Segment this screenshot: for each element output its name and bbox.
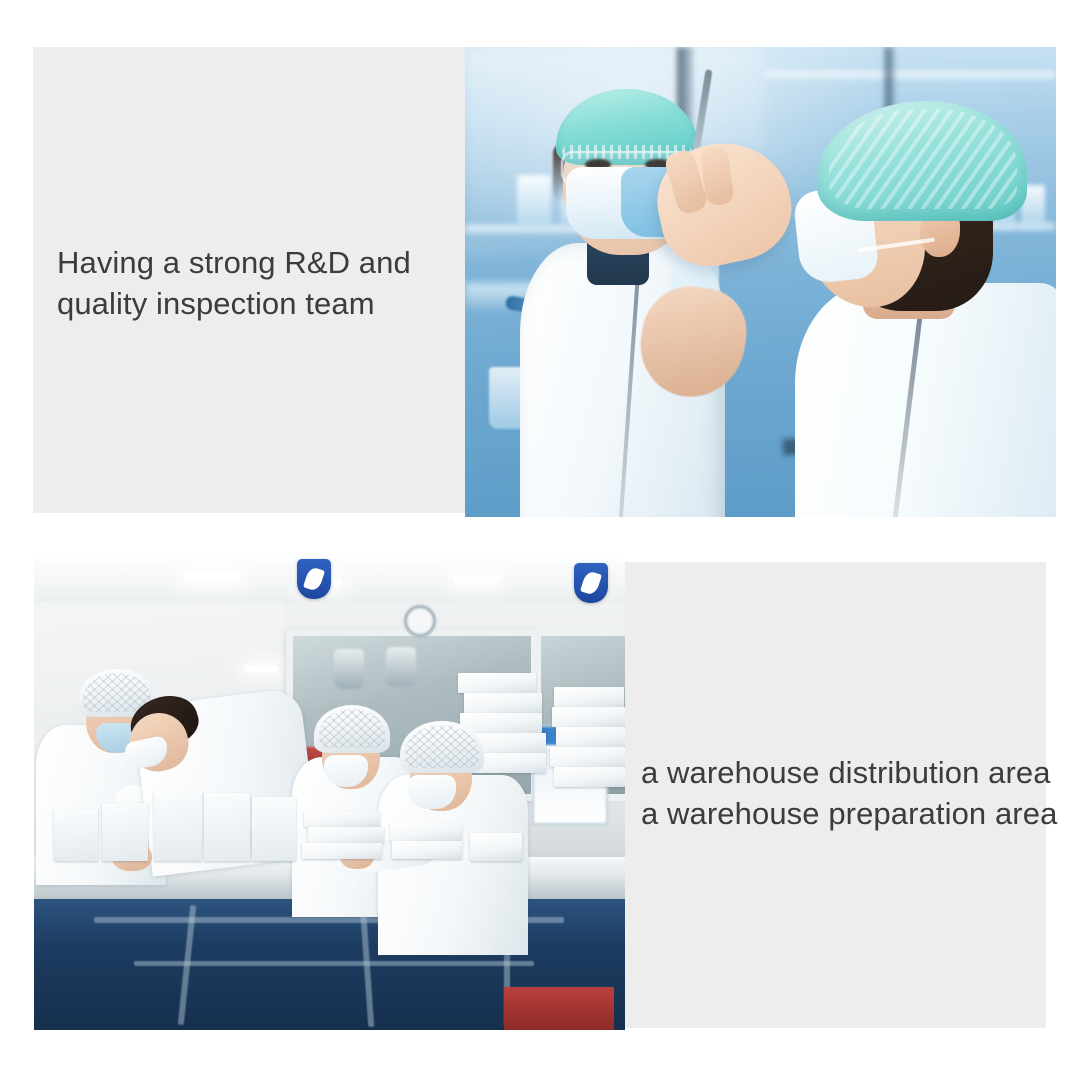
product-box — [54, 809, 98, 861]
page-root: Having a strong R&D and quality inspecti… — [0, 0, 1080, 1080]
bottom-caption-line-1: a warehouse distribution area — [641, 752, 1057, 793]
product-box — [552, 707, 625, 727]
product-box — [102, 803, 148, 861]
product-box — [550, 747, 625, 767]
product-box — [252, 797, 296, 861]
table-rail — [134, 961, 534, 966]
product-box — [390, 823, 462, 841]
product-box — [554, 767, 625, 787]
bottom-caption: a warehouse distribution area a warehous… — [641, 752, 1057, 834]
product-box — [460, 713, 542, 733]
product-box — [556, 727, 625, 747]
product-box — [154, 791, 202, 861]
product-box — [308, 827, 384, 843]
lab-bottle — [517, 175, 551, 227]
product-box — [392, 841, 462, 859]
top-caption: Having a strong R&D and quality inspecti… — [57, 242, 411, 324]
ceiling-light — [244, 665, 278, 672]
bottom-caption-line-2: a warehouse preparation area — [641, 793, 1057, 834]
product-box — [554, 687, 624, 707]
product-box — [464, 693, 542, 713]
ceiling-light — [454, 575, 500, 583]
red-bin — [504, 987, 614, 1030]
top-caption-line-1: Having a strong R&D and — [57, 242, 411, 283]
steel-canister — [334, 649, 364, 689]
product-box — [304, 811, 380, 827]
product-box — [458, 673, 536, 693]
blue-safety-sign-icon — [574, 563, 608, 603]
top-caption-line-2: quality inspection team — [57, 283, 411, 324]
lab-shelf — [765, 71, 1055, 80]
warehouse-packing-photo — [34, 557, 625, 1030]
steel-canister — [386, 647, 416, 687]
product-box — [204, 793, 250, 861]
lab-inspection-photo — [465, 47, 1056, 517]
packing-worker-mask — [408, 775, 456, 809]
ceiling-light — [184, 573, 240, 582]
product-box — [470, 833, 522, 861]
wall-clock-icon — [404, 605, 436, 637]
blue-safety-sign-icon — [297, 559, 331, 599]
product-box — [302, 843, 382, 859]
